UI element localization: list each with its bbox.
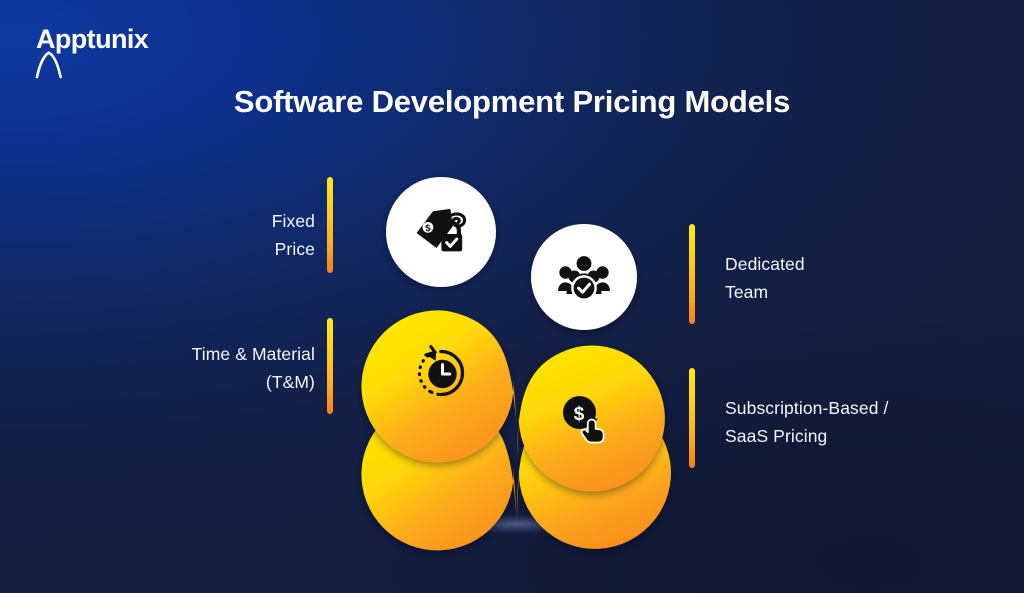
infographic-canvas: Apptunix Software Development Pricing Mo… [0,0,1024,593]
page-title: Software Development Pricing Models [0,84,1024,120]
accent-bar-fixed-price [327,177,333,273]
accent-bar-dedicated-team [689,224,695,324]
label-dedicated-team: Dedicated Team [725,250,995,306]
accent-bar-time-material [327,318,333,414]
brand-logo: Apptunix [30,26,148,53]
svg-text:$: $ [574,404,585,425]
label-fixed-price: Fixed Price [55,207,315,263]
accent-bar-subscription [689,368,695,468]
brand-name: Apptunix [32,26,148,53]
label-subscription-saas: Subscription-Based / SaaS Pricing [725,394,1005,450]
label-time-material: Time & Material (T&M) [15,340,315,396]
